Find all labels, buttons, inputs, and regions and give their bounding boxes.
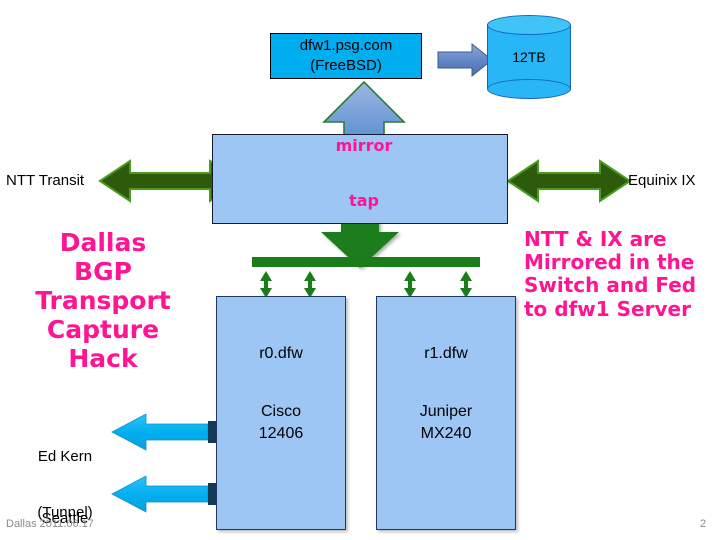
router-box-r1[interactable]: r1.dfw Juniper MX240 [376, 296, 516, 530]
router-1-model-text: MX240 [420, 423, 472, 445]
arrow-equinix-ix [508, 161, 630, 201]
footer-left-text: Dallas 2011.06.17 [6, 518, 94, 530]
router-1-vendor: Juniper MX240 [420, 401, 472, 446]
router-0-vendor-text: Cisco [259, 401, 304, 423]
server-box-dfw1[interactable]: dfw1.psg.com (FreeBSD) [270, 33, 422, 79]
storage-cylinder-12tb[interactable]: 12TB [487, 15, 571, 99]
mirror-tap-label: mirror tap [330, 100, 398, 247]
label-equinix-ix: Equinix IX [628, 172, 696, 191]
router-0-vendor: Cisco 12406 [259, 401, 304, 446]
storage-capacity-label: 12TB [487, 15, 571, 99]
router-1-vendor-text: Juniper [420, 401, 472, 423]
footer-page-number: 2 [700, 518, 706, 530]
router-0-model-text: 12406 [259, 423, 304, 445]
router-1-name: r1.dfw [424, 345, 468, 363]
router-0-name: r0.dfw [259, 345, 303, 363]
title-block: Dallas BGP Transport Capture Hack [8, 228, 198, 373]
arrow-ed-kern-tunnel [112, 414, 217, 450]
label-ed-kern-line1: Ed Kern [22, 448, 108, 467]
slide-canvas: dfw1.psg.com (FreeBSD) 12TB mirror tap N… [0, 0, 720, 540]
router-bus-bar [252, 257, 480, 267]
server-os: (FreeBSD) [310, 56, 382, 76]
mirror-tap-line2: tap [330, 192, 398, 210]
note-block: NTT & IX are Mirrored in the Switch and … [524, 228, 720, 321]
arrow-seattle-multihop [112, 476, 217, 512]
router-box-r0[interactable]: r0.dfw Cisco 12406 [216, 296, 346, 530]
arrow-server-to-storage [438, 44, 492, 76]
server-hostname: dfw1.psg.com [300, 36, 393, 56]
label-ntt-transit: NTT Transit [6, 172, 84, 191]
bus-to-router-arrows [260, 271, 472, 298]
mirror-tap-line1: mirror [330, 137, 398, 155]
